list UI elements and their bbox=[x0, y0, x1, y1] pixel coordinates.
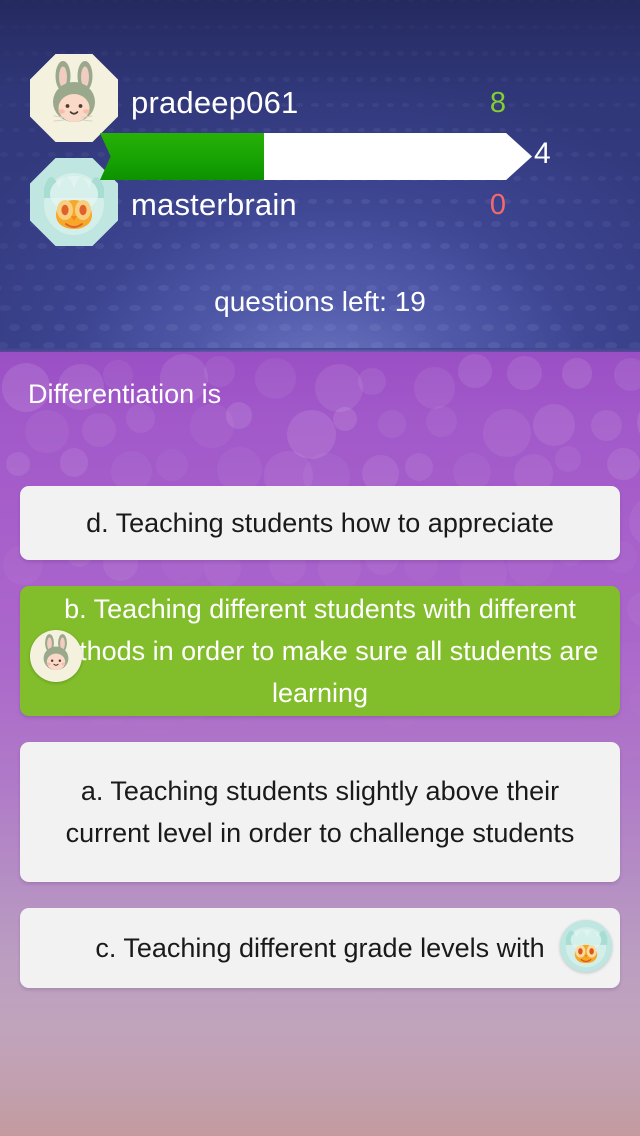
questions-left-label: questions left: 19 bbox=[0, 286, 640, 318]
progress-fill bbox=[100, 133, 264, 180]
answer-option-c[interactable]: c. Teaching different grade levels with bbox=[20, 908, 620, 988]
quiz-game-screen: pradeep061 masterbrain 8 0 4 questions l… bbox=[0, 0, 640, 1136]
bunny-avatar-icon bbox=[30, 54, 118, 142]
answer-option-b-label: b. Teaching different students with diff… bbox=[36, 588, 604, 714]
answer-option-d[interactable]: d. Teaching students how to appreciate bbox=[20, 486, 620, 560]
progress-total-label: 4 bbox=[534, 137, 551, 171]
owl-avatar-icon bbox=[560, 920, 612, 972]
answer-option-c-label: c. Teaching different grade levels with bbox=[36, 927, 604, 969]
answer-option-a-label: a. Teaching students slightly above thei… bbox=[36, 770, 604, 854]
player-name-2: masterbrain bbox=[131, 187, 297, 223]
question-text: Differentiation is bbox=[28, 378, 612, 410]
player-score-1: 8 bbox=[478, 87, 518, 120]
player-score-2: 0 bbox=[478, 189, 518, 222]
player-name-1: pradeep061 bbox=[131, 85, 299, 121]
bunny-avatar-icon bbox=[30, 630, 82, 682]
answer-option-d-label: d. Teaching students how to appreciate bbox=[36, 502, 604, 544]
answer-option-a[interactable]: a. Teaching students slightly above thei… bbox=[20, 742, 620, 882]
answer-option-b[interactable]: b. Teaching different students with diff… bbox=[20, 586, 620, 716]
score-progress-bar bbox=[100, 133, 532, 180]
